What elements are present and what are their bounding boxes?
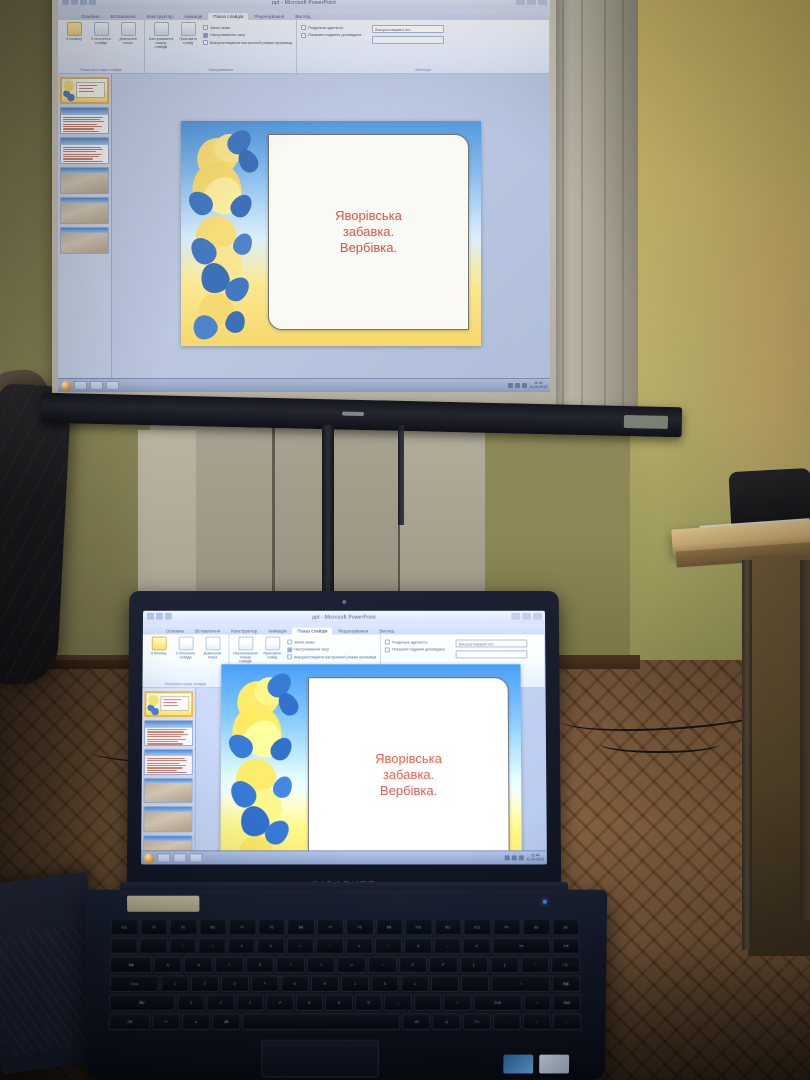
thumbnail-slide-2[interactable] bbox=[60, 107, 109, 134]
key-menu[interactable]: ▤ bbox=[433, 1013, 461, 1030]
ppt-title-text: ppt - Microsoft PowerPoint bbox=[312, 614, 376, 620]
tab-view[interactable]: Вигляд bbox=[374, 628, 399, 635]
custom-show-icon bbox=[121, 22, 136, 36]
office-button-icon[interactable] bbox=[147, 613, 154, 620]
tab-home[interactable]: Основне bbox=[161, 628, 189, 635]
key-f12[interactable]: F12 bbox=[464, 919, 492, 936]
checkbox-record-narration[interactable]: Запис мови bbox=[203, 25, 292, 30]
window-controls[interactable] bbox=[516, 0, 547, 5]
laptop-keyboard[interactable]: Esc F1 F2 F3 F4 F5 F6 F7 F8 F9 F10 F11 F… bbox=[109, 919, 581, 1030]
slide-editing-area[interactable]: Яворівська забавка. Вербівка. bbox=[195, 688, 547, 864]
ppt-titlebar: ppt - Microsoft PowerPoint bbox=[58, 0, 550, 9]
button-from-current[interactable]: З поточного слайда bbox=[89, 22, 113, 68]
ribbon-group-start-slideshow: З початку З поточного слайда Довільний п… bbox=[58, 20, 145, 73]
button-from-current[interactable]: З поточного слайда bbox=[173, 637, 197, 683]
slide-thumbnail-pane[interactable] bbox=[141, 688, 196, 864]
button-from-current-label: З поточного слайда bbox=[89, 37, 113, 45]
keyboard-row-zxcv[interactable]: Shift Z X C V B N M , . / Shift ↑ End bbox=[109, 994, 581, 1011]
key-f2[interactable]: F2 bbox=[169, 919, 197, 936]
checkbox-show-presenter-view-label: Показати подання доповідача bbox=[392, 647, 445, 651]
play-from-start-icon bbox=[151, 637, 166, 651]
key-f5[interactable]: F5 bbox=[258, 919, 286, 936]
laptop[interactable]: ppt - Microsoft PowerPoint Основне Встав… bbox=[0, 560, 810, 1080]
undo-icon[interactable] bbox=[165, 613, 172, 620]
key-p[interactable]: P bbox=[429, 956, 458, 973]
thumbnail-slide-5[interactable] bbox=[143, 806, 192, 832]
start-orb-icon[interactable] bbox=[61, 381, 71, 391]
key-arrow-left[interactable]: ← bbox=[493, 1013, 521, 1030]
key-shift-right[interactable]: Shift bbox=[473, 994, 521, 1011]
key-3[interactable]: 3 bbox=[198, 937, 226, 954]
tab-design[interactable]: Конструктор bbox=[142, 13, 178, 20]
intel-sticker bbox=[539, 1055, 569, 1074]
photo-scene: hp ppt - Microsoft PowerPoint Основне Вс… bbox=[0, 0, 810, 1080]
checkbox-rehearse-timings[interactable]: Настроювання часу bbox=[287, 647, 376, 652]
key-end[interactable]: End bbox=[553, 994, 581, 1011]
key-fn[interactable]: Fn bbox=[152, 1013, 180, 1030]
laptop-powerpoint-window[interactable]: ppt - Microsoft PowerPoint Основне Встав… bbox=[141, 611, 547, 865]
quick-access-toolbar[interactable] bbox=[147, 613, 172, 620]
key-1[interactable]: 1 bbox=[140, 937, 168, 954]
key-f9[interactable]: F9 bbox=[375, 919, 402, 936]
tab-slideshow[interactable]: Показ слайдів bbox=[208, 13, 248, 20]
key-b[interactable]: B bbox=[296, 994, 324, 1011]
quick-access-toolbar[interactable] bbox=[62, 0, 96, 5]
play-from-current-icon bbox=[94, 22, 109, 36]
redo-icon[interactable] bbox=[89, 0, 96, 5]
undo-icon[interactable] bbox=[80, 0, 87, 5]
key-bracket-left[interactable]: [ bbox=[460, 956, 489, 973]
key-d[interactable]: D bbox=[221, 975, 249, 992]
thumbnail-slide-4[interactable] bbox=[144, 778, 193, 804]
taskbar-clock[interactable]: 11:44 11.04.2013 bbox=[527, 854, 544, 862]
key-alt-left[interactable]: Alt bbox=[212, 1013, 240, 1030]
key-f6[interactable]: F6 bbox=[287, 919, 314, 936]
key-8[interactable]: 8 bbox=[345, 937, 372, 954]
button-from-beginning-label: З початку bbox=[66, 37, 82, 41]
thumbnail-slide-6[interactable] bbox=[60, 227, 109, 254]
save-icon[interactable] bbox=[156, 613, 163, 620]
checkbox-presenter-mode[interactable]: Використовувати настроєний режим промовц… bbox=[203, 40, 292, 45]
office-button-icon[interactable] bbox=[62, 0, 69, 5]
key-windows[interactable]: ⊞ bbox=[182, 1013, 210, 1030]
key-l[interactable]: L bbox=[401, 975, 429, 992]
clock-date: 11.04.2013 bbox=[527, 858, 544, 862]
volume-icon[interactable] bbox=[515, 383, 520, 388]
laptop-screen-bezel: ppt - Microsoft PowerPoint Основне Встав… bbox=[141, 611, 547, 865]
key-c[interactable]: C bbox=[236, 994, 264, 1011]
slide-title-line-1: Яворівська bbox=[335, 208, 402, 224]
slide-editing-area[interactable]: Яворівська забавка. Вербівка. bbox=[112, 74, 550, 392]
thumbnail-slide-3[interactable] bbox=[144, 749, 193, 775]
petrykivka-floral-ornament bbox=[229, 668, 311, 864]
checkbox-icon bbox=[287, 647, 292, 652]
key-k[interactable]: K bbox=[371, 975, 399, 992]
taskbar-button-explorer[interactable] bbox=[74, 381, 87, 390]
button-custom-show[interactable]: Довільний показ bbox=[116, 22, 140, 68]
key-capslock[interactable]: Caps bbox=[110, 975, 159, 992]
close-icon[interactable] bbox=[538, 0, 547, 5]
checkbox-resolution[interactable]: Роздільна здатність: bbox=[385, 639, 445, 644]
checkbox-presenter-mode-label: Використовувати настроєний режим промовц… bbox=[294, 655, 376, 659]
ppt-titlebar: ppt - Microsoft PowerPoint bbox=[143, 611, 545, 624]
button-from-beginning[interactable]: З початку bbox=[146, 637, 170, 683]
checkbox-presenter-mode-label: Використовувати настроєний режим промовц… bbox=[210, 41, 292, 45]
projected-powerpoint-window[interactable]: ppt - Microsoft PowerPoint Основне Встав… bbox=[58, 0, 550, 392]
button-setup-show-label: Настроювання показу слайдів bbox=[233, 651, 257, 663]
key-arrow-down[interactable]: ↓ bbox=[523, 1013, 551, 1030]
clock-date: 11.04.2013 bbox=[530, 386, 547, 390]
checkbox-icon bbox=[385, 639, 390, 644]
petrykivka-floral-ornament bbox=[190, 125, 271, 341]
current-slide[interactable]: Яворівська забавка. Вербівка. bbox=[181, 121, 481, 346]
minimize-icon[interactable] bbox=[516, 0, 525, 5]
taskbar-clock[interactable]: 11:44 11.04.2013 bbox=[530, 382, 547, 390]
tab-slideshow[interactable]: Показ слайдів bbox=[293, 628, 333, 635]
keyboard-row-asdf[interactable]: Caps A S D F G H J K L ; ' ⏎ PgD bbox=[110, 975, 581, 992]
key-ctrl-right[interactable]: Ctrl bbox=[463, 1013, 491, 1030]
keyboard-row-qwerty[interactable]: Tab Q W E R T Y U I O P [ ] \ PgU bbox=[110, 956, 580, 973]
tab-view[interactable]: Вигляд bbox=[290, 13, 315, 20]
thumbnail-slide-5[interactable] bbox=[60, 197, 109, 224]
ppt-workspace: Яворівська забавка. Вербівка. bbox=[141, 688, 547, 864]
ribbon-group-monitors: Роздільна здатність: Показати подання до… bbox=[297, 20, 550, 73]
slide-title-line-1: Яворівська bbox=[375, 751, 442, 767]
checkbox-resolution[interactable]: Роздільна здатність: bbox=[301, 25, 361, 30]
laptop-spec-sticker bbox=[127, 896, 199, 912]
key-s[interactable]: S bbox=[190, 975, 218, 992]
ribbon-tabs[interactable]: Основне Вставлення Конструктор Анімація … bbox=[143, 624, 545, 635]
ribbon-group-start-label: Розпочати показ слайдів bbox=[146, 682, 224, 687]
button-from-beginning[interactable]: З початку bbox=[62, 22, 86, 68]
system-tray[interactable] bbox=[504, 855, 523, 860]
taskbar-button-browser[interactable] bbox=[106, 381, 119, 390]
key-ctrl-left[interactable]: Ctrl bbox=[109, 1013, 150, 1030]
checkbox-record-narration-label: Запис мови bbox=[210, 26, 230, 30]
key-shift-left[interactable]: Shift bbox=[109, 994, 175, 1011]
webcam-icon bbox=[342, 600, 347, 605]
checkbox-resolution-label: Роздільна здатність: bbox=[392, 640, 428, 644]
play-from-start-icon bbox=[67, 22, 82, 36]
key-a[interactable]: A bbox=[160, 975, 188, 992]
thumbnail-slide-1[interactable] bbox=[60, 77, 109, 104]
key-5[interactable]: 5 bbox=[257, 937, 284, 954]
key-insert[interactable]: Ins bbox=[522, 919, 550, 936]
checkbox-icon bbox=[203, 25, 208, 30]
screen-bar-label bbox=[624, 415, 668, 429]
key-w[interactable]: W bbox=[184, 956, 213, 973]
ppt-workspace: Яворівська забавка. Вербівка. bbox=[58, 74, 550, 392]
key-period[interactable]: . bbox=[414, 994, 442, 1011]
button-hide-slide-label: Приховати слайд bbox=[260, 651, 284, 659]
key-2[interactable]: 2 bbox=[169, 937, 197, 954]
button-custom-show-label: Довільний показ bbox=[200, 651, 224, 659]
key-equals[interactable]: = bbox=[463, 937, 491, 954]
system-tray[interactable] bbox=[508, 383, 527, 388]
custom-show-icon bbox=[205, 637, 220, 651]
checkbox-rehearse-timings-label: Настроювання часу bbox=[210, 33, 245, 37]
monitor-select[interactable] bbox=[456, 650, 528, 658]
key-t[interactable]: T bbox=[276, 956, 305, 973]
taskbar-button-browser[interactable] bbox=[189, 853, 202, 862]
setup-show-icon bbox=[238, 637, 253, 651]
ribbon-tabs[interactable]: Основне Вставлення Конструктор Анімація … bbox=[58, 9, 550, 20]
volume-icon[interactable] bbox=[511, 855, 516, 860]
tab-animations[interactable]: Анімація bbox=[179, 13, 207, 20]
checkbox-record-narration-label: Запис мови bbox=[294, 640, 314, 644]
touchpad[interactable] bbox=[261, 1040, 379, 1078]
windows-taskbar[interactable]: 11:44 11.04.2013 bbox=[141, 850, 547, 864]
key-y[interactable]: Y bbox=[307, 956, 336, 973]
key-e[interactable]: E bbox=[215, 956, 244, 973]
windows-taskbar[interactable]: 11:44 11.04.2013 bbox=[58, 378, 550, 392]
key-g[interactable]: G bbox=[281, 975, 309, 992]
laptop-stickers bbox=[503, 1055, 569, 1074]
key-f1[interactable]: F1 bbox=[140, 919, 168, 936]
taskbar-button-powerpoint[interactable] bbox=[90, 381, 103, 390]
taskbar-button-explorer[interactable] bbox=[157, 853, 170, 862]
network-icon[interactable] bbox=[508, 383, 513, 388]
slide-thumbnail-pane[interactable] bbox=[58, 74, 112, 392]
button-setup-show[interactable]: Настроювання показу слайдів bbox=[149, 22, 173, 68]
key-minus[interactable]: - bbox=[434, 937, 462, 954]
windows-sticker bbox=[503, 1055, 533, 1074]
key-f3[interactable]: F3 bbox=[199, 919, 227, 936]
key-f8[interactable]: F8 bbox=[346, 919, 373, 936]
key-semicolon[interactable]: ; bbox=[431, 975, 459, 992]
slide-title-line-3: Вербівка. bbox=[380, 783, 437, 799]
slide-title-line-2: забавка. bbox=[343, 224, 394, 240]
key-7[interactable]: 7 bbox=[316, 937, 343, 954]
power-led-indicator bbox=[543, 900, 547, 904]
monitor-select[interactable] bbox=[372, 36, 444, 44]
key-i[interactable]: I bbox=[368, 956, 397, 973]
ribbon-group-monitors-label: Монітори bbox=[301, 68, 545, 73]
key-u[interactable]: U bbox=[337, 956, 366, 973]
key-j[interactable]: J bbox=[341, 975, 369, 992]
key-esc[interactable]: Esc bbox=[111, 919, 139, 936]
checkbox-icon bbox=[287, 639, 292, 644]
hide-slide-icon bbox=[265, 637, 280, 651]
thumbnail-slide-2[interactable] bbox=[144, 720, 193, 746]
ribbon[interactable]: З початку З поточного слайда Довільний п… bbox=[58, 20, 550, 74]
checkbox-record-narration[interactable]: Запис мови bbox=[287, 639, 376, 644]
tab-design[interactable]: Конструктор bbox=[226, 628, 262, 635]
restore-icon[interactable] bbox=[527, 0, 536, 5]
key-9[interactable]: 9 bbox=[375, 937, 402, 954]
key-m[interactable]: M bbox=[355, 994, 383, 1011]
slide-title-line-2: забавка. bbox=[383, 767, 434, 783]
current-slide[interactable]: Яворівська забавка. Вербівка. bbox=[220, 664, 522, 865]
key-x[interactable]: X bbox=[207, 994, 235, 1011]
floral-ornament-icon bbox=[147, 695, 159, 717]
key-pageup[interactable]: PgU bbox=[551, 956, 580, 973]
checkbox-icon bbox=[203, 40, 208, 45]
button-from-beginning-label: З початку bbox=[151, 651, 167, 655]
key-f11[interactable]: F11 bbox=[434, 919, 462, 936]
key-arrow-up[interactable]: ↑ bbox=[523, 994, 551, 1011]
key-f7[interactable]: F7 bbox=[317, 919, 344, 936]
button-hide-slide[interactable]: Приховати слайд bbox=[176, 22, 200, 68]
key-backspace[interactable]: ⌫ bbox=[492, 937, 550, 954]
keyboard-row-modifiers[interactable]: Ctrl Fn ⊞ Alt Alt ▤ Ctrl ← ↓ → bbox=[109, 1013, 581, 1030]
keyboard-row-function[interactable]: Esc F1 F2 F3 F4 F5 F6 F7 F8 F9 F10 F11 F… bbox=[111, 919, 580, 936]
network-icon[interactable] bbox=[504, 855, 509, 860]
button-custom-show-label: Довільний показ bbox=[116, 37, 140, 45]
ribbon-group-start-slideshow: З початку З поточного слайда Довільний п… bbox=[142, 635, 229, 688]
tab-insert[interactable]: Вставлення bbox=[190, 628, 225, 635]
thumbnail-slide-1[interactable] bbox=[144, 691, 193, 717]
ribbon-group-setup: Настроювання показу слайдів Приховати сл… bbox=[145, 20, 297, 73]
button-hide-slide-label: Приховати слайд bbox=[176, 37, 200, 45]
key-printscreen[interactable]: Prt bbox=[493, 919, 521, 936]
laptop-lid: ppt - Microsoft PowerPoint Основне Встав… bbox=[127, 591, 562, 901]
key-v[interactable]: V bbox=[266, 994, 294, 1011]
button-setup-show-label: Настроювання показу слайдів bbox=[149, 37, 174, 49]
key-delete[interactable]: Del bbox=[552, 919, 580, 936]
ppt-title-text: ppt - Microsoft PowerPoint bbox=[272, 0, 336, 6]
laptop-base[interactable]: Esc F1 F2 F3 F4 F5 F6 F7 F8 F9 F10 F11 F… bbox=[85, 890, 608, 1080]
save-icon[interactable] bbox=[71, 0, 78, 5]
restore-icon[interactable] bbox=[522, 613, 531, 620]
thumbnail-slide-4[interactable] bbox=[60, 167, 109, 194]
checkbox-icon bbox=[301, 33, 306, 38]
thumbnail-slide-3[interactable] bbox=[60, 137, 109, 164]
key-home[interactable]: Hm bbox=[552, 937, 580, 954]
checkbox-presenter-mode[interactable]: Використовувати настроєний режим промовц… bbox=[287, 654, 376, 659]
window-controls[interactable] bbox=[511, 613, 542, 620]
key-o[interactable]: O bbox=[398, 956, 427, 973]
resolution-select[interactable]: Використовувати пот... bbox=[456, 639, 528, 647]
hide-slide-icon bbox=[181, 22, 196, 36]
floral-ornament-icon bbox=[63, 81, 75, 104]
checkbox-resolution-label: Роздільна здатність: bbox=[308, 26, 344, 30]
key-pagedown[interactable]: PgD bbox=[552, 975, 580, 992]
button-from-current-label: З поточного слайда bbox=[174, 651, 198, 659]
key-tilde[interactable]: ~ bbox=[110, 937, 138, 954]
ribbon-group-setup-label: Настроювання bbox=[149, 68, 292, 73]
key-bracket-right[interactable]: ] bbox=[490, 956, 519, 973]
screen-stand-pole-secondary bbox=[398, 425, 404, 525]
checkbox-rehearse-timings[interactable]: Настроювання часу bbox=[203, 33, 292, 38]
key-f[interactable]: F bbox=[251, 975, 279, 992]
key-f4[interactable]: F4 bbox=[228, 919, 256, 936]
tab-animations[interactable]: Анімація bbox=[263, 628, 291, 635]
setup-show-icon bbox=[154, 22, 169, 36]
resolution-select[interactable]: Використовувати пот... bbox=[372, 25, 444, 33]
key-r[interactable]: R bbox=[246, 956, 275, 973]
curtain bbox=[548, 0, 638, 420]
key-6[interactable]: 6 bbox=[287, 937, 314, 954]
key-n[interactable]: N bbox=[325, 994, 353, 1011]
key-enter[interactable]: ⏎ bbox=[491, 975, 551, 992]
slide-title-card: Яворівська забавка. Вербівка. bbox=[308, 677, 510, 864]
keyboard-row-numbers[interactable]: ~ 1 2 3 4 5 6 7 8 9 0 - = ⌫ Hm bbox=[110, 937, 580, 954]
key-comma[interactable]: , bbox=[384, 994, 412, 1011]
language-icon[interactable] bbox=[522, 383, 527, 388]
checkbox-show-presenter-view[interactable]: Показати подання доповідача bbox=[301, 33, 361, 38]
taskbar-button-powerpoint[interactable] bbox=[173, 853, 186, 862]
checkbox-icon bbox=[301, 25, 306, 30]
key-arrow-right[interactable]: → bbox=[553, 1013, 581, 1030]
checkbox-icon bbox=[385, 647, 390, 652]
checkbox-rehearse-timings-label: Настроювання часу bbox=[294, 647, 329, 651]
key-0[interactable]: 0 bbox=[404, 937, 431, 954]
close-icon[interactable] bbox=[533, 613, 542, 620]
key-f10[interactable]: F10 bbox=[405, 919, 433, 936]
tab-review[interactable]: Рецензування bbox=[333, 628, 373, 635]
key-space[interactable] bbox=[242, 1013, 400, 1030]
slide-title-line-3: Вербівка. bbox=[340, 240, 397, 256]
start-orb-icon[interactable] bbox=[144, 853, 154, 863]
language-icon[interactable] bbox=[518, 855, 523, 860]
key-tab[interactable]: Tab bbox=[110, 956, 152, 973]
key-slash[interactable]: / bbox=[444, 994, 472, 1011]
tab-home[interactable]: Основне bbox=[76, 13, 105, 20]
ribbon-group-start-label: Розпочати показ слайдів bbox=[62, 68, 140, 73]
checkbox-show-presenter-view-label: Показати подання доповідача bbox=[308, 33, 361, 37]
tab-insert[interactable]: Вставлення bbox=[106, 13, 141, 20]
slide-title-card: Яворівська забавка. Вербівка. bbox=[268, 134, 469, 330]
key-q[interactable]: Q bbox=[154, 956, 183, 973]
checkbox-icon bbox=[203, 33, 208, 38]
key-4[interactable]: 4 bbox=[228, 937, 256, 954]
key-z[interactable]: Z bbox=[177, 994, 205, 1011]
key-quote[interactable]: ' bbox=[461, 975, 489, 992]
screen-bar-highlight bbox=[342, 412, 364, 416]
key-alt-right[interactable]: Alt bbox=[403, 1013, 431, 1030]
tab-review[interactable]: Рецензування bbox=[249, 13, 289, 20]
key-h[interactable]: H bbox=[311, 975, 339, 992]
key-backslash[interactable]: \ bbox=[521, 956, 550, 973]
checkbox-icon bbox=[287, 654, 292, 659]
play-from-current-icon bbox=[178, 637, 193, 651]
minimize-icon[interactable] bbox=[511, 613, 520, 620]
checkbox-show-presenter-view[interactable]: Показати подання доповідача bbox=[385, 647, 445, 652]
